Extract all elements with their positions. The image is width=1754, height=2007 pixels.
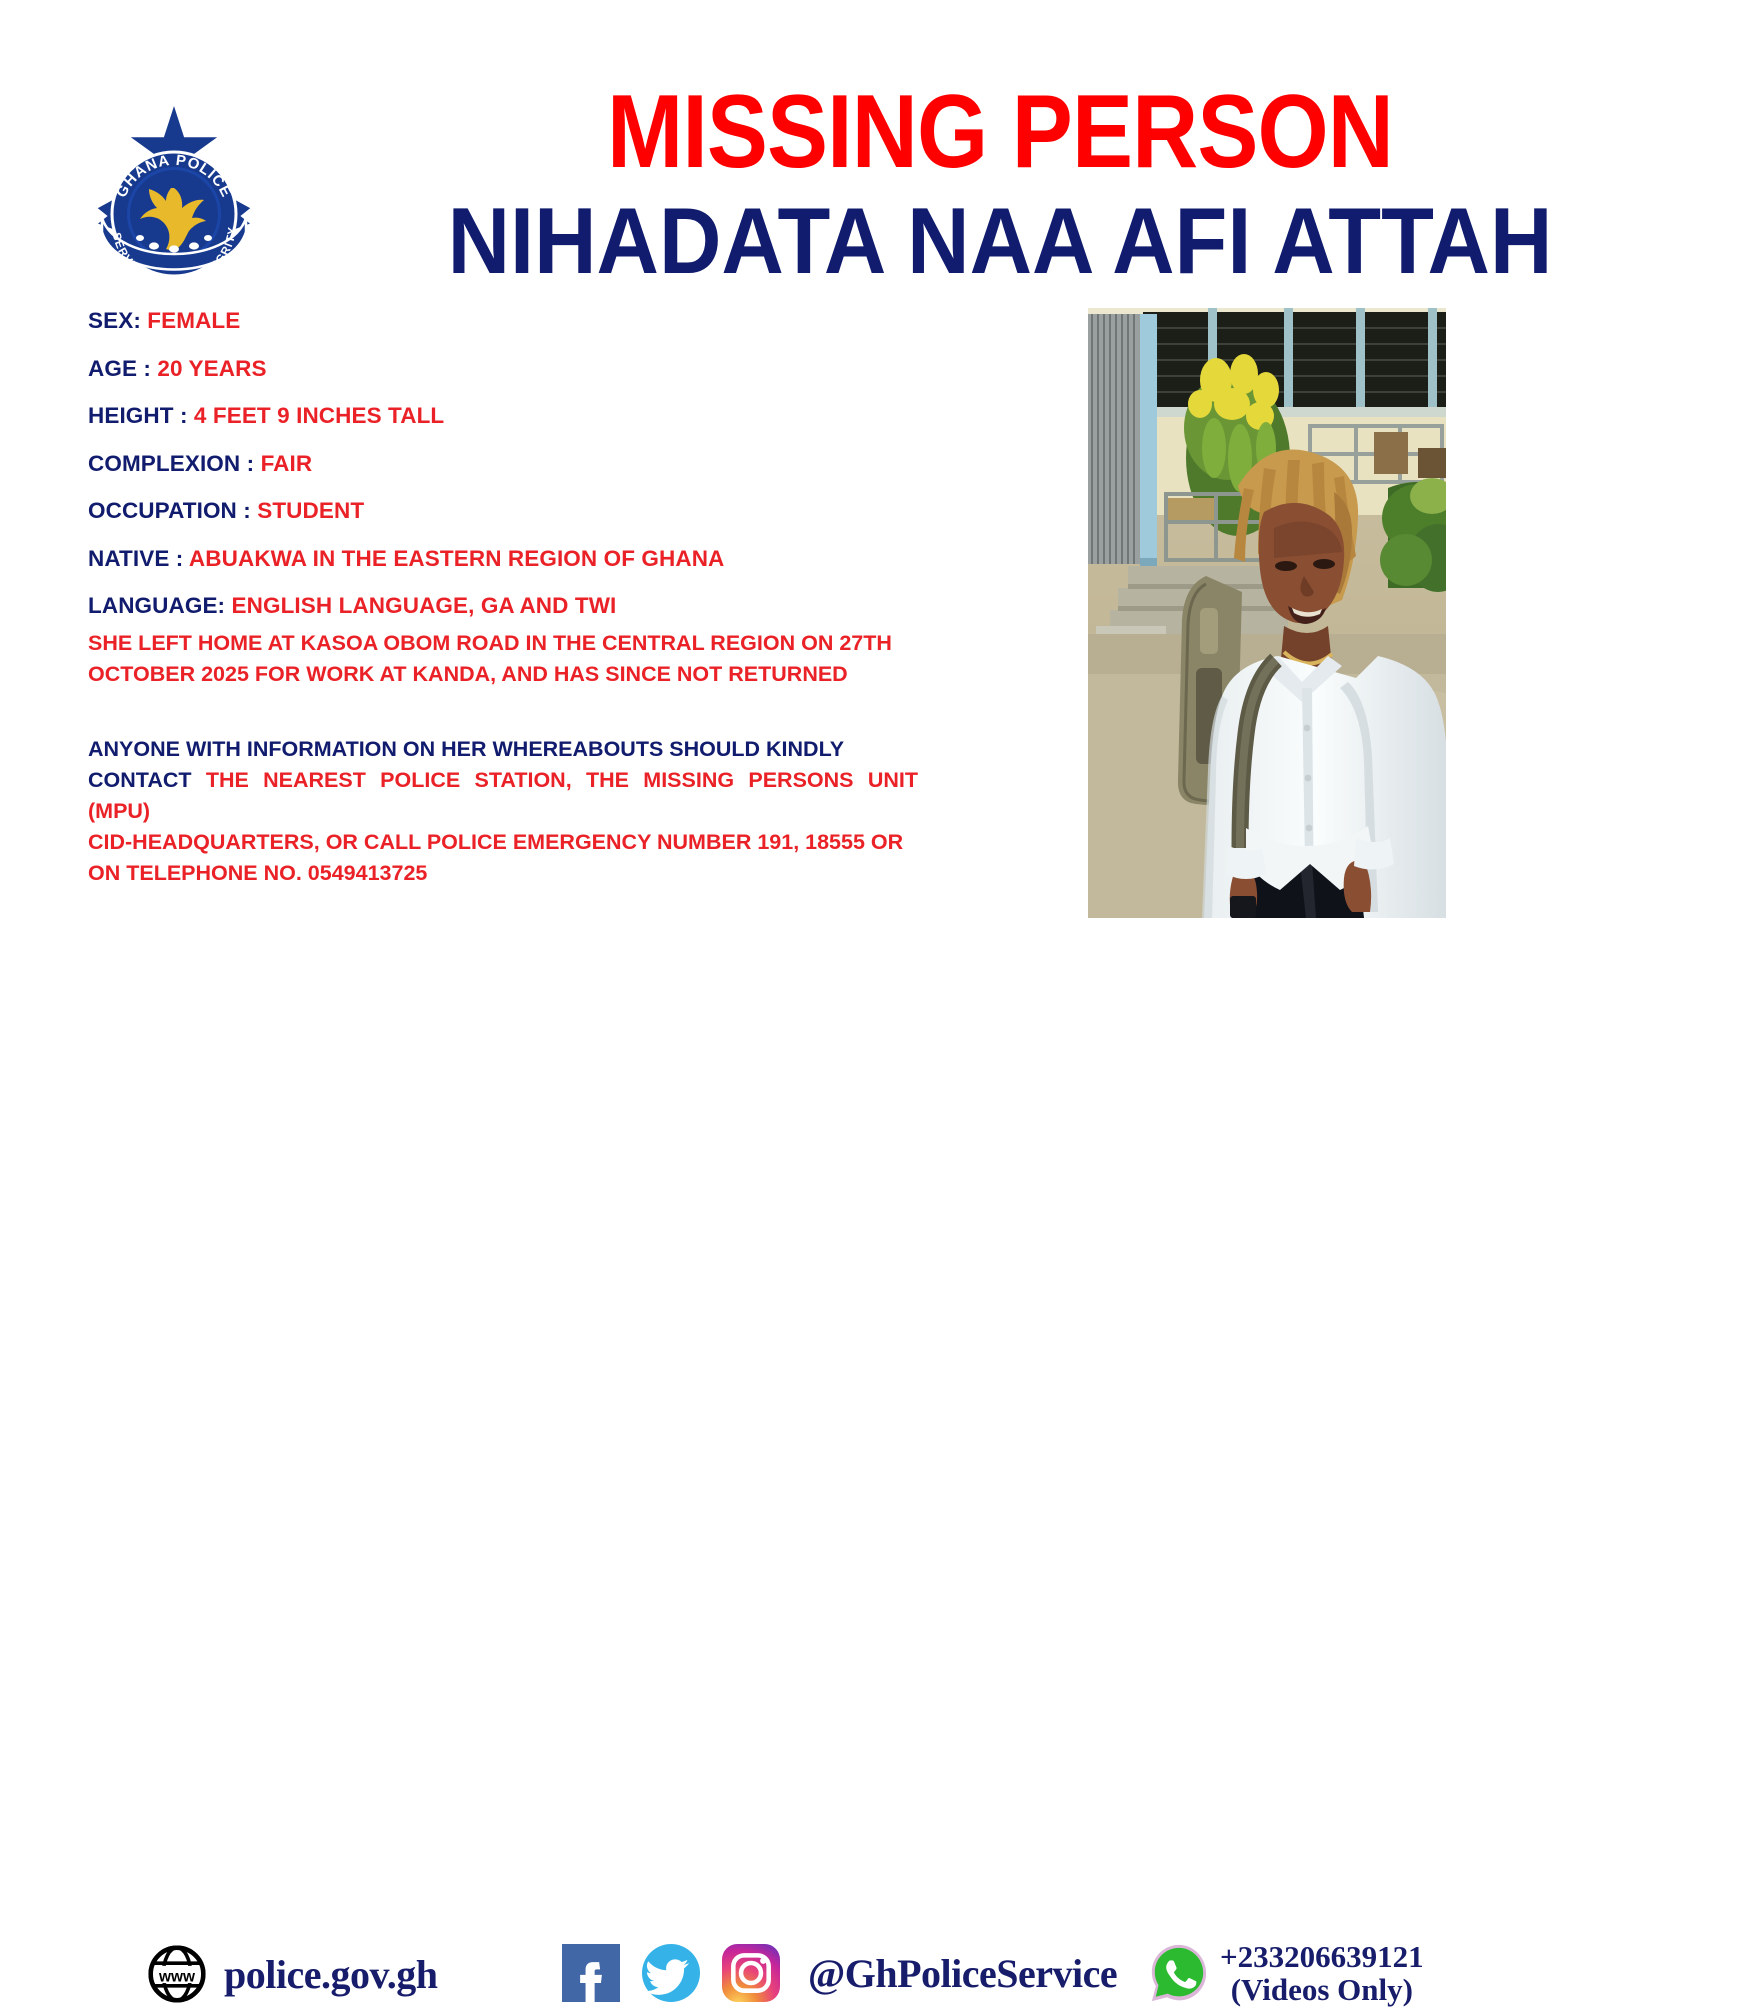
website-group[interactable]: www police.gov.gh	[148, 1945, 438, 2003]
detail-label: NATIVE :	[88, 546, 183, 571]
detail-row-complexion: COMPLEXION : FAIR	[88, 453, 968, 476]
detail-value: FEMALE	[147, 308, 240, 333]
appeal-contact-word: CONTACT	[88, 768, 192, 792]
facebook-icon[interactable]	[562, 1944, 620, 2002]
poster-header: GHANA POLICE SERVICE	[0, 0, 1754, 300]
appeal-line-4: ON TELEPHONE NO. 0549413725	[88, 858, 918, 889]
missing-person-photo	[1088, 308, 1446, 918]
detail-label: OCCUPATION :	[88, 498, 251, 523]
page-title-name: NIHADATA NAA AFI ATTAH	[342, 192, 1658, 291]
svg-text:www: www	[158, 1968, 195, 1985]
detail-row-height: HEIGHT : 4 FEET 9 INCHES TALL	[88, 405, 968, 428]
appeal-paragraph: ANYONE WITH INFORMATION ON HER WHEREABOU…	[88, 734, 918, 889]
circumstances-line-2: OCTOBER 2025 FOR WORK AT KANDA, AND HAS …	[88, 659, 918, 690]
appeal-line-2: CONTACT THE NEAREST POLICE STATION, THE …	[88, 765, 918, 827]
detail-row-sex: SEX: FEMALE	[88, 310, 968, 333]
page-title-missing: MISSING PERSON	[371, 80, 1629, 184]
detail-row-language: LANGUAGE: ENGLISH LANGUAGE, GA AND TWI	[88, 595, 968, 618]
detail-value: ABUAKWA IN THE EASTERN REGION OF GHANA	[189, 546, 724, 571]
appeal-contact-target: THE NEAREST POLICE STATION, THE MISSING …	[88, 768, 918, 823]
social-group: @GhPoliceService	[562, 1944, 1117, 2002]
missing-person-poster: GHANA POLICE SERVICE	[0, 0, 1754, 1240]
website-url[interactable]: police.gov.gh	[224, 1951, 438, 1998]
detail-label: COMPLEXION :	[88, 451, 254, 476]
instagram-icon[interactable]	[722, 1944, 780, 2002]
whatsapp-icon[interactable]	[1148, 1942, 1210, 2004]
detail-label: AGE :	[88, 356, 151, 381]
detail-row-age: AGE : 20 YEARS	[88, 358, 968, 381]
title-block: MISSING PERSON NIHADATA NAA AFI ATTAH	[285, 80, 1715, 291]
whatsapp-text: +233206639121 (Videos Only)	[1220, 1940, 1424, 2006]
appeal-line-1: ANYONE WITH INFORMATION ON HER WHEREABOU…	[88, 734, 918, 765]
ghana-police-crest-icon: GHANA POLICE SERVICE	[88, 96, 260, 286]
detail-value: FAIR	[261, 451, 313, 476]
whatsapp-group: +233206639121 (Videos Only)	[1148, 1940, 1424, 2006]
whatsapp-number[interactable]: +233206639121	[1220, 1940, 1424, 1973]
twitter-icon[interactable]	[642, 1944, 700, 2002]
person-details-list: SEX: FEMALE AGE : 20 YEARS HEIGHT : 4 FE…	[88, 310, 968, 643]
poster-footer: www police.gov.gh	[0, 930, 1754, 1050]
detail-row-occupation: OCCUPATION : STUDENT	[88, 500, 968, 523]
detail-label: HEIGHT :	[88, 403, 188, 428]
social-handle[interactable]: @GhPoliceService	[808, 1950, 1117, 1997]
detail-value: STUDENT	[257, 498, 364, 523]
detail-value: 4 FEET 9 INCHES TALL	[194, 403, 444, 428]
detail-value: ENGLISH LANGUAGE, GA AND TWI	[232, 593, 617, 618]
appeal-line-3: CID-HEADQUARTERS, OR CALL POLICE EMERGEN…	[88, 827, 918, 858]
detail-row-native: NATIVE : ABUAKWA IN THE EASTERN REGION O…	[88, 548, 968, 571]
www-globe-icon: www	[148, 1945, 206, 2003]
detail-label: LANGUAGE:	[88, 593, 225, 618]
detail-label: SEX:	[88, 308, 141, 333]
circumstances-paragraph: SHE LEFT HOME AT KASOA OBOM ROAD IN THE …	[88, 628, 918, 690]
circumstances-line-1: SHE LEFT HOME AT KASOA OBOM ROAD IN THE …	[88, 628, 918, 659]
whatsapp-note: (Videos Only)	[1220, 1973, 1424, 2006]
detail-value: 20 YEARS	[157, 356, 266, 381]
